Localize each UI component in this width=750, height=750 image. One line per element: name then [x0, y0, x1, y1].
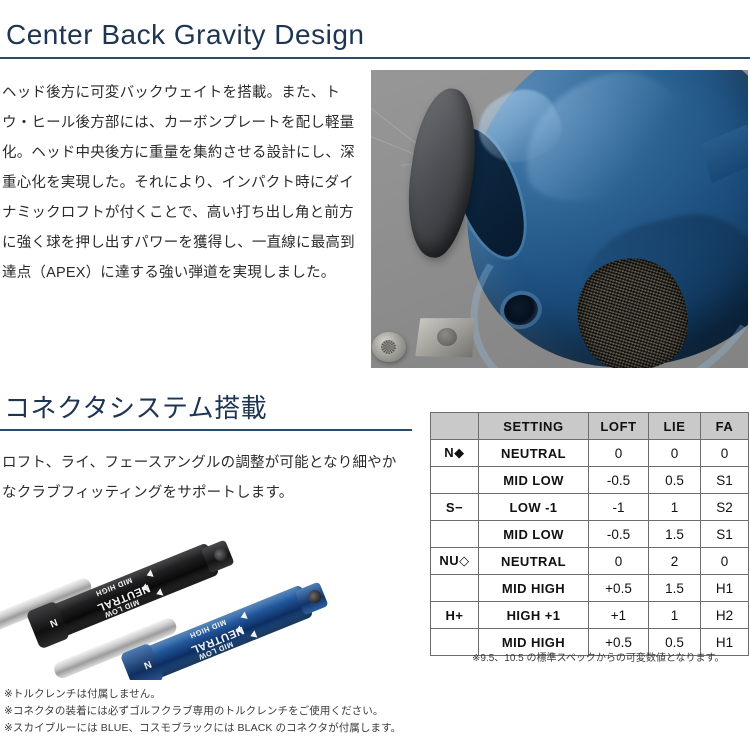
cell-fa: H2	[701, 602, 749, 629]
cell-loft: -0.5	[589, 467, 649, 494]
cell-setting: LOW -1	[479, 494, 589, 521]
footnote-line-1: ※トルクレンチは付属しません。	[4, 686, 401, 703]
cell-loft: 0	[589, 548, 649, 575]
table-header-fa: FA	[701, 413, 749, 440]
cell-lie: 0.5	[649, 467, 701, 494]
connector-tip	[295, 582, 329, 616]
cell-lie: 1.5	[649, 575, 701, 602]
table-header-row: SETTING LOFT LIE FA	[431, 413, 749, 440]
driver-head-render-image	[371, 70, 748, 368]
triangle-marker-icon	[155, 588, 164, 598]
cell-code: S−	[431, 494, 479, 521]
cell-code: H+	[431, 602, 479, 629]
section-body-connector: ロフト、ライ、フェースアングルの調整が可能となり細やかなクラブフィッティングをサ…	[2, 448, 402, 508]
cell-loft: 0	[589, 440, 649, 467]
cell-lie: 2	[649, 548, 701, 575]
footnote-line-2: ※コネクタの装着には必ずゴルフクラブ専用のトルクレンチをご使用ください。	[4, 703, 401, 720]
product-detail-page: Center Back Gravity Design ヘッド後方に可変バックウェ…	[0, 0, 750, 750]
connector-photo-image: NEUTRAL MID HIGH MID LOW N NEUTRAL MID H…	[0, 512, 400, 680]
cell-lie: 0	[649, 440, 701, 467]
cell-loft: -1	[589, 494, 649, 521]
cell-code: N◆	[431, 440, 479, 467]
cell-setting: MID HIGH	[479, 575, 589, 602]
table-row: S− LOW -1 -1 1 S2	[431, 494, 749, 521]
cell-fa: S1	[701, 467, 749, 494]
cell-fa: 0	[701, 440, 749, 467]
cell-fa: H1	[701, 575, 749, 602]
cell-setting: MID LOW	[479, 521, 589, 548]
cell-lie: 1.5	[649, 521, 701, 548]
cell-setting: NEUTRAL	[479, 548, 589, 575]
cell-fa: S2	[701, 494, 749, 521]
table-header-code	[431, 413, 479, 440]
table-row: H+ HIGH +1 +1 1 H2	[431, 602, 749, 629]
table-header-loft: LOFT	[589, 413, 649, 440]
weight-screw-part	[372, 332, 406, 362]
spec-table-note: ※9.5、10.5 の標準スペックからの可変数値となります。	[472, 652, 725, 666]
triangle-marker-icon	[239, 611, 248, 621]
cell-loft: -0.5	[589, 521, 649, 548]
cell-code	[431, 467, 479, 494]
cell-code	[431, 575, 479, 602]
triangle-marker-icon	[249, 630, 258, 640]
cell-fa: 0	[701, 548, 749, 575]
footnote-line-3: ※スカイブルーには BLUE、コスモブラックには BLACK のコネクタが付属し…	[4, 720, 401, 737]
cell-code: NU◇	[431, 548, 479, 575]
cell-lie: 1	[649, 494, 701, 521]
cell-lie: 1	[649, 602, 701, 629]
table-header-setting: SETTING	[479, 413, 589, 440]
heading-divider-gravity	[0, 57, 750, 59]
table-row: NU◇ NEUTRAL 0 2 0	[431, 548, 749, 575]
cell-loft: +0.5	[589, 575, 649, 602]
heading-divider-connector	[0, 429, 412, 431]
loft-lie-setting-table: SETTING LOFT LIE FA N◆ NEUTRAL 0 0 0 MID…	[430, 412, 749, 656]
back-weight-hole	[437, 328, 457, 346]
table-row: MID HIGH +0.5 1.5 H1	[431, 575, 749, 602]
table-row: MID LOW -0.5 0.5 S1	[431, 467, 749, 494]
section-body-gravity: ヘッド後方に可変バックウェイトを搭載。また、トウ・ヒール後方部には、カーボンプレ…	[2, 78, 364, 288]
cell-setting: HIGH +1	[479, 602, 589, 629]
cell-setting: NEUTRAL	[479, 440, 589, 467]
connector-tip	[201, 540, 235, 574]
section-heading-connector: コネクタシステム搭載	[4, 392, 267, 424]
cell-setting: MID LOW	[479, 467, 589, 494]
cell-code	[431, 521, 479, 548]
section-heading-gravity: Center Back Gravity Design	[6, 18, 364, 52]
table-header-lie: LIE	[649, 413, 701, 440]
footnote-block: ※トルクレンチは付属しません。 ※コネクタの装着には必ずゴルフクラブ専用のトルク…	[4, 686, 401, 737]
table-row: N◆ NEUTRAL 0 0 0	[431, 440, 749, 467]
table-row: MID LOW -0.5 1.5 S1	[431, 521, 749, 548]
triangle-marker-icon	[145, 569, 154, 579]
cell-fa: S1	[701, 521, 749, 548]
cell-loft: +1	[589, 602, 649, 629]
